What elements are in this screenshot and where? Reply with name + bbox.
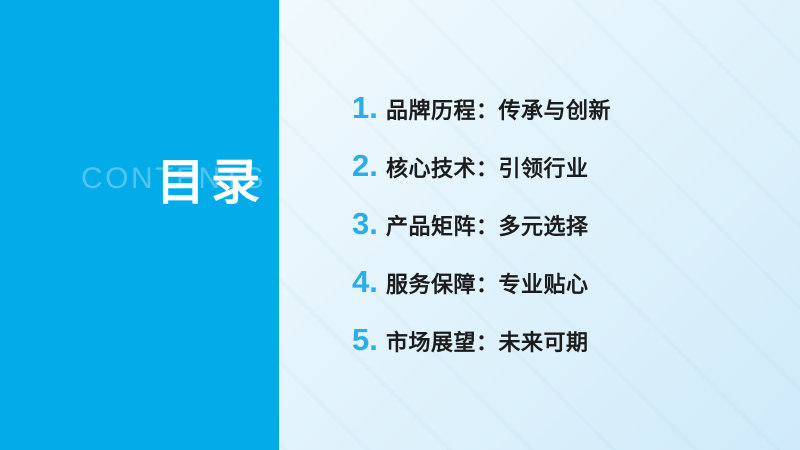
list-item[interactable]: 3. 产品矩阵：多元选择 [352,208,752,266]
list-item-label: 品牌历程：传承与创新 [386,100,611,122]
list-item-label: 产品矩阵：多元选择 [386,216,589,238]
page-title: 目录 [156,153,266,214]
list-item-number: 1. [352,92,386,123]
list-item-number: 2. [352,150,386,181]
list-item-number: 5. [352,324,386,355]
left-title-block: CONTENTS 目录 [0,0,279,450]
slide-canvas: CONTENTS 目录 1. 品牌历程：传承与创新 2. 核心技术：引领行业 3… [0,0,800,450]
list-item[interactable]: 4. 服务保障：专业贴心 [352,266,752,324]
list-item[interactable]: 5. 市场展望：未来可期 [352,324,752,382]
list-item-label: 核心技术：引领行业 [386,158,589,180]
list-item[interactable]: 1. 品牌历程：传承与创新 [352,92,752,150]
list-item-label: 市场展望：未来可期 [386,332,589,354]
list-item-label: 服务保障：专业贴心 [386,274,589,296]
list-item-number: 3. [352,208,386,239]
table-of-contents-list: 1. 品牌历程：传承与创新 2. 核心技术：引领行业 3. 产品矩阵：多元选择 … [352,92,752,382]
list-item-number: 4. [352,266,386,297]
title-group: CONTENTS 目录 [0,150,279,220]
list-item[interactable]: 2. 核心技术：引领行业 [352,150,752,208]
